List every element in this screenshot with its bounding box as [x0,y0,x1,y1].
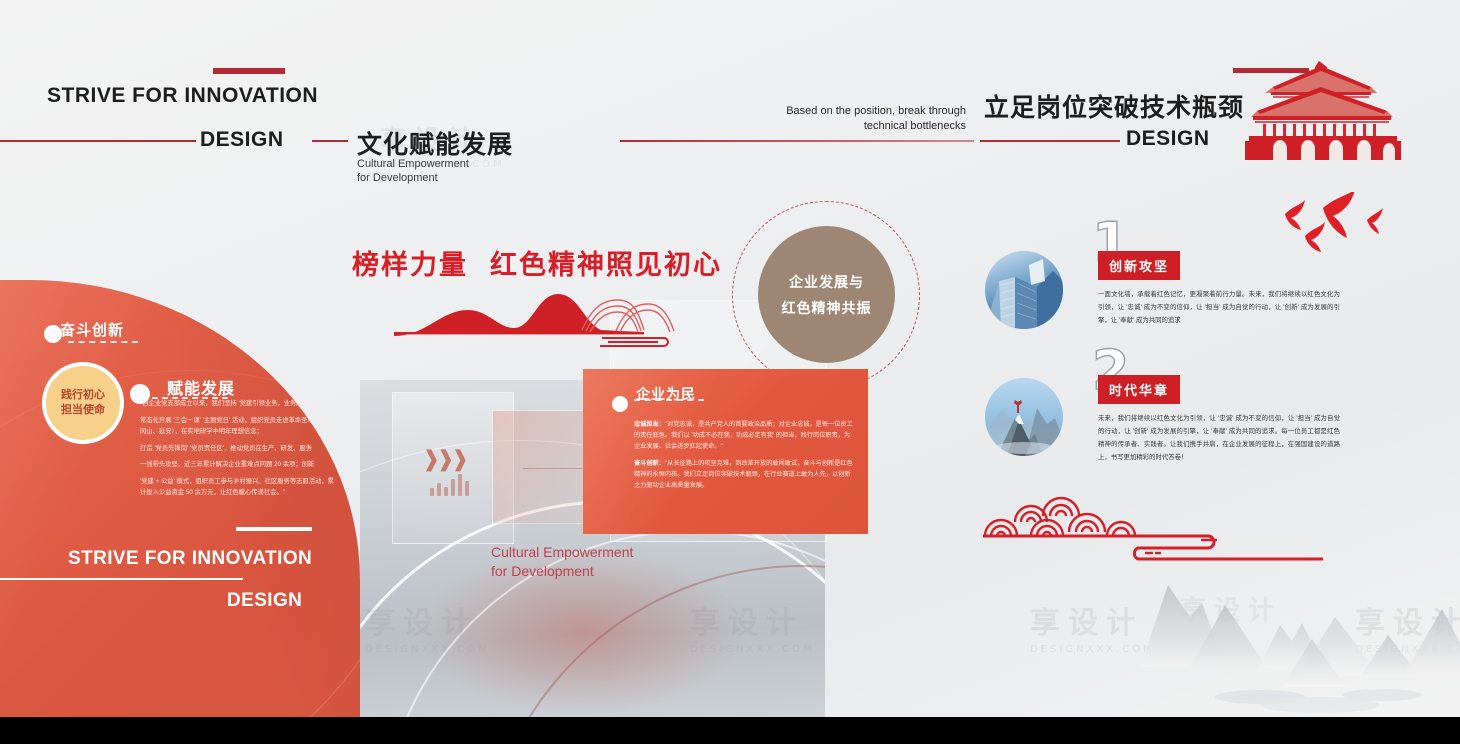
left-panel-body-p5: '党建 + 公益' 模式，组织员工参与乡村振兴、社区服务等志愿活动，累计投入公益… [140,476,335,499]
center-culture-en-line2: for Development [491,562,633,581]
left-panel-design-label: DESIGN [227,590,302,612]
resonance-circle-line1: 企业发展与 [789,269,864,295]
center-card-p2-text: "从长征路上的攻坚克难，到改革开放的敢闯敢试，奋斗与创新是红色精神的永恒内核。我… [634,460,853,489]
step-body-2: 未来，我们将继续以红色文化为引领，让 '忠诚' 成为不变的信仰，让 '担当' 成… [1098,412,1340,464]
mission-badge-line1: 践行初心 [61,388,105,403]
left-panel-rule [0,578,243,580]
header-design-label: DESIGN [200,128,284,152]
thumbnail-skyscraper [985,251,1063,329]
center-card-p1-lead: 忠诚担当： [634,421,665,428]
header-en-subtitle-left: Cultural Empowerment for Development [357,157,469,185]
dashed-underline-card [634,399,704,401]
watermark: 享设计DESIGNXXX.COM [365,598,490,655]
header-en-subtitle-left-line1: Cultural Empowerment [357,157,469,171]
dashed-underline-1 [68,341,138,343]
chevrons-icon: ❱❱❱ [422,446,465,472]
center-card-heading: 企业为民 [636,384,696,404]
header-en-subtitle-right-line2: technical bottlenecks [736,119,966,134]
header-en-subtitle-right-line1: Based on the position, break through [736,104,966,119]
header-mid-dash [312,140,348,142]
header-cn-title-left: 文化赋能发展 [357,125,513,161]
step-body-1: 一面文化墙，承载着红色记忆，更凝聚着前行力量。未来，我们将继续以红色文化为引领，… [1098,288,1340,327]
left-panel-heading-1: 奋斗创新 [60,319,124,340]
center-headline-part2: 红色精神照见初心 [490,250,722,280]
left-panel-heading-2: 赋能发展 [167,375,235,399]
flying-birds-icon [1283,192,1393,254]
header-design-label-right: DESIGN [1126,127,1210,151]
header-left-rule [0,140,196,142]
chinese-cloud-pattern-icon [963,496,1343,566]
bottom-black-bar [0,717,1460,744]
center-headline: 榜样力量红色精神照见初心 [352,243,722,282]
center-card-p2-lead: 奋斗创新： [634,460,665,467]
resonance-circle: 企业发展与 红色精神共振 [758,226,895,363]
header-strive-title: STRIVE FOR INNOVATION [47,84,318,108]
bullet-dot-card [612,396,628,412]
center-culture-en: Cultural Empowerment for Development [491,543,633,581]
step-tag-2: 时代华章 [1098,375,1180,404]
tiananmen-gate-icon [1243,57,1403,160]
mini-bar-chart-icon [430,470,469,496]
center-card-paragraph-1: 忠诚担当："对党忠诚，是共产党人的首要政治品质；对企业忠诚，是每一位员工的责任底… [634,419,856,452]
center-culture-en-line1: Cultural Empowerment [491,543,633,562]
mission-badge: 践行初心 担当使命 [42,362,124,444]
left-panel-body-p4: 一线带头攻坚，近三年累计解决企业重难点问题 20 余项；创新 [140,459,335,471]
header-right-rule-2 [980,140,1120,142]
left-panel-body: "自企业党支部成立以来，我们坚持 '党建引领业务，业务融入 常态化开展 '三会一… [140,398,335,504]
left-panel-accent-bar [236,527,312,531]
header-cn-title-right: 立足岗位突破技术瓶颈 [984,88,1244,124]
left-panel-body-p1: "自企业党支部成立以来，我们坚持 '党建引领业务，业务融入 [140,398,335,410]
red-mountain-wave-icon [386,288,686,348]
center-card-p1-text: "对党忠诚，是共产党人的首要政治品质；对企业忠诚，是每一位员工的责任底色。我们以… [634,421,853,450]
header-en-subtitle-right: Based on the position, break through tec… [736,104,966,134]
center-card-paragraph-2: 奋斗创新："从长征路上的攻坚克难，到改革开放的敢闯敢试，奋斗与创新是红色精神的永… [634,458,856,491]
poster-canvas: ❱❱❱ 享设计DESIGNXXX.COM 享设计DESIGNXXX.COM 享设… [0,0,1460,744]
center-headline-part1: 榜样力量 [352,250,468,280]
resonance-circle-line2: 红色精神共振 [782,295,872,321]
mission-badge-line2: 担当使命 [61,403,105,418]
ink-mountains-illustration [1130,547,1460,717]
header-right-rule [620,140,974,142]
watermark: 享设计DESIGNXXX.COM [690,598,815,655]
left-panel-strive-title: STRIVE FOR INNOVATION [68,548,312,570]
header-left-accent-bar [213,68,285,74]
center-card-body: 忠诚担当："对党忠诚，是共产党人的首要政治品质；对企业忠诚，是每一位员工的责任底… [634,419,856,497]
left-panel-body-p3: 打造 '党员先锋岗' '党员责任区'，推动党员在生产、研发、服务 [140,443,335,455]
step-tag-1: 创新攻坚 [1098,251,1180,280]
left-panel-body-p2: 常态化开展 '三会一课' '主题党日' 活动，组织党员走进革命圣地（如井冈山、延… [140,415,335,438]
header-en-subtitle-left-line2: for Development [357,171,469,185]
thumbnail-mountain-summit [985,378,1063,456]
